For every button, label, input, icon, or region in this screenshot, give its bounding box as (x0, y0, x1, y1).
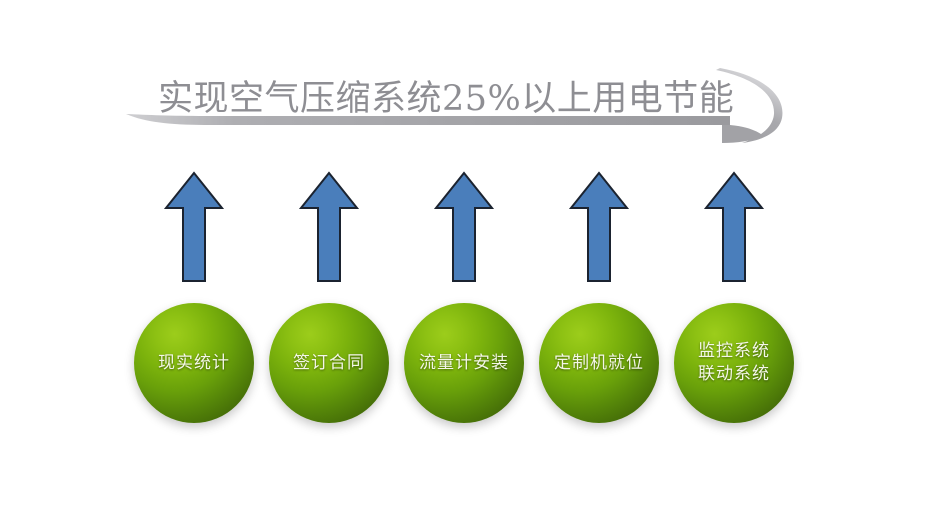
process-node-label: 签订合同 (293, 352, 365, 375)
arrow-up-icon (703, 170, 765, 284)
process-node[interactable]: 流量计安装 (404, 303, 524, 423)
process-node-label: 定制机就位 (554, 352, 644, 375)
process-node-label: 监控系统 联动系统 (698, 340, 770, 386)
process-node[interactable]: 定制机就位 (539, 303, 659, 423)
arrow-up-icon (568, 170, 630, 284)
arrow-up-icon (163, 170, 225, 284)
page-title: 实现空气压缩系统25%以上用电节能 (158, 74, 758, 124)
process-node[interactable]: 现实统计 (134, 303, 254, 423)
title-block: 实现空气压缩系统25%以上用电节能 (118, 30, 798, 150)
process-node[interactable]: 签订合同 (269, 303, 389, 423)
process-node-label: 现实统计 (158, 352, 230, 375)
process-node[interactable]: 监控系统 联动系统 (674, 303, 794, 423)
arrow-up-icon (433, 170, 495, 284)
slide-canvas: 实现空气压缩系统25%以上用电节能 现实统计 签订合同 流量计安装 定制机就位 … (0, 0, 945, 529)
arrow-up-icon (298, 170, 360, 284)
process-node-label: 流量计安装 (419, 352, 509, 375)
